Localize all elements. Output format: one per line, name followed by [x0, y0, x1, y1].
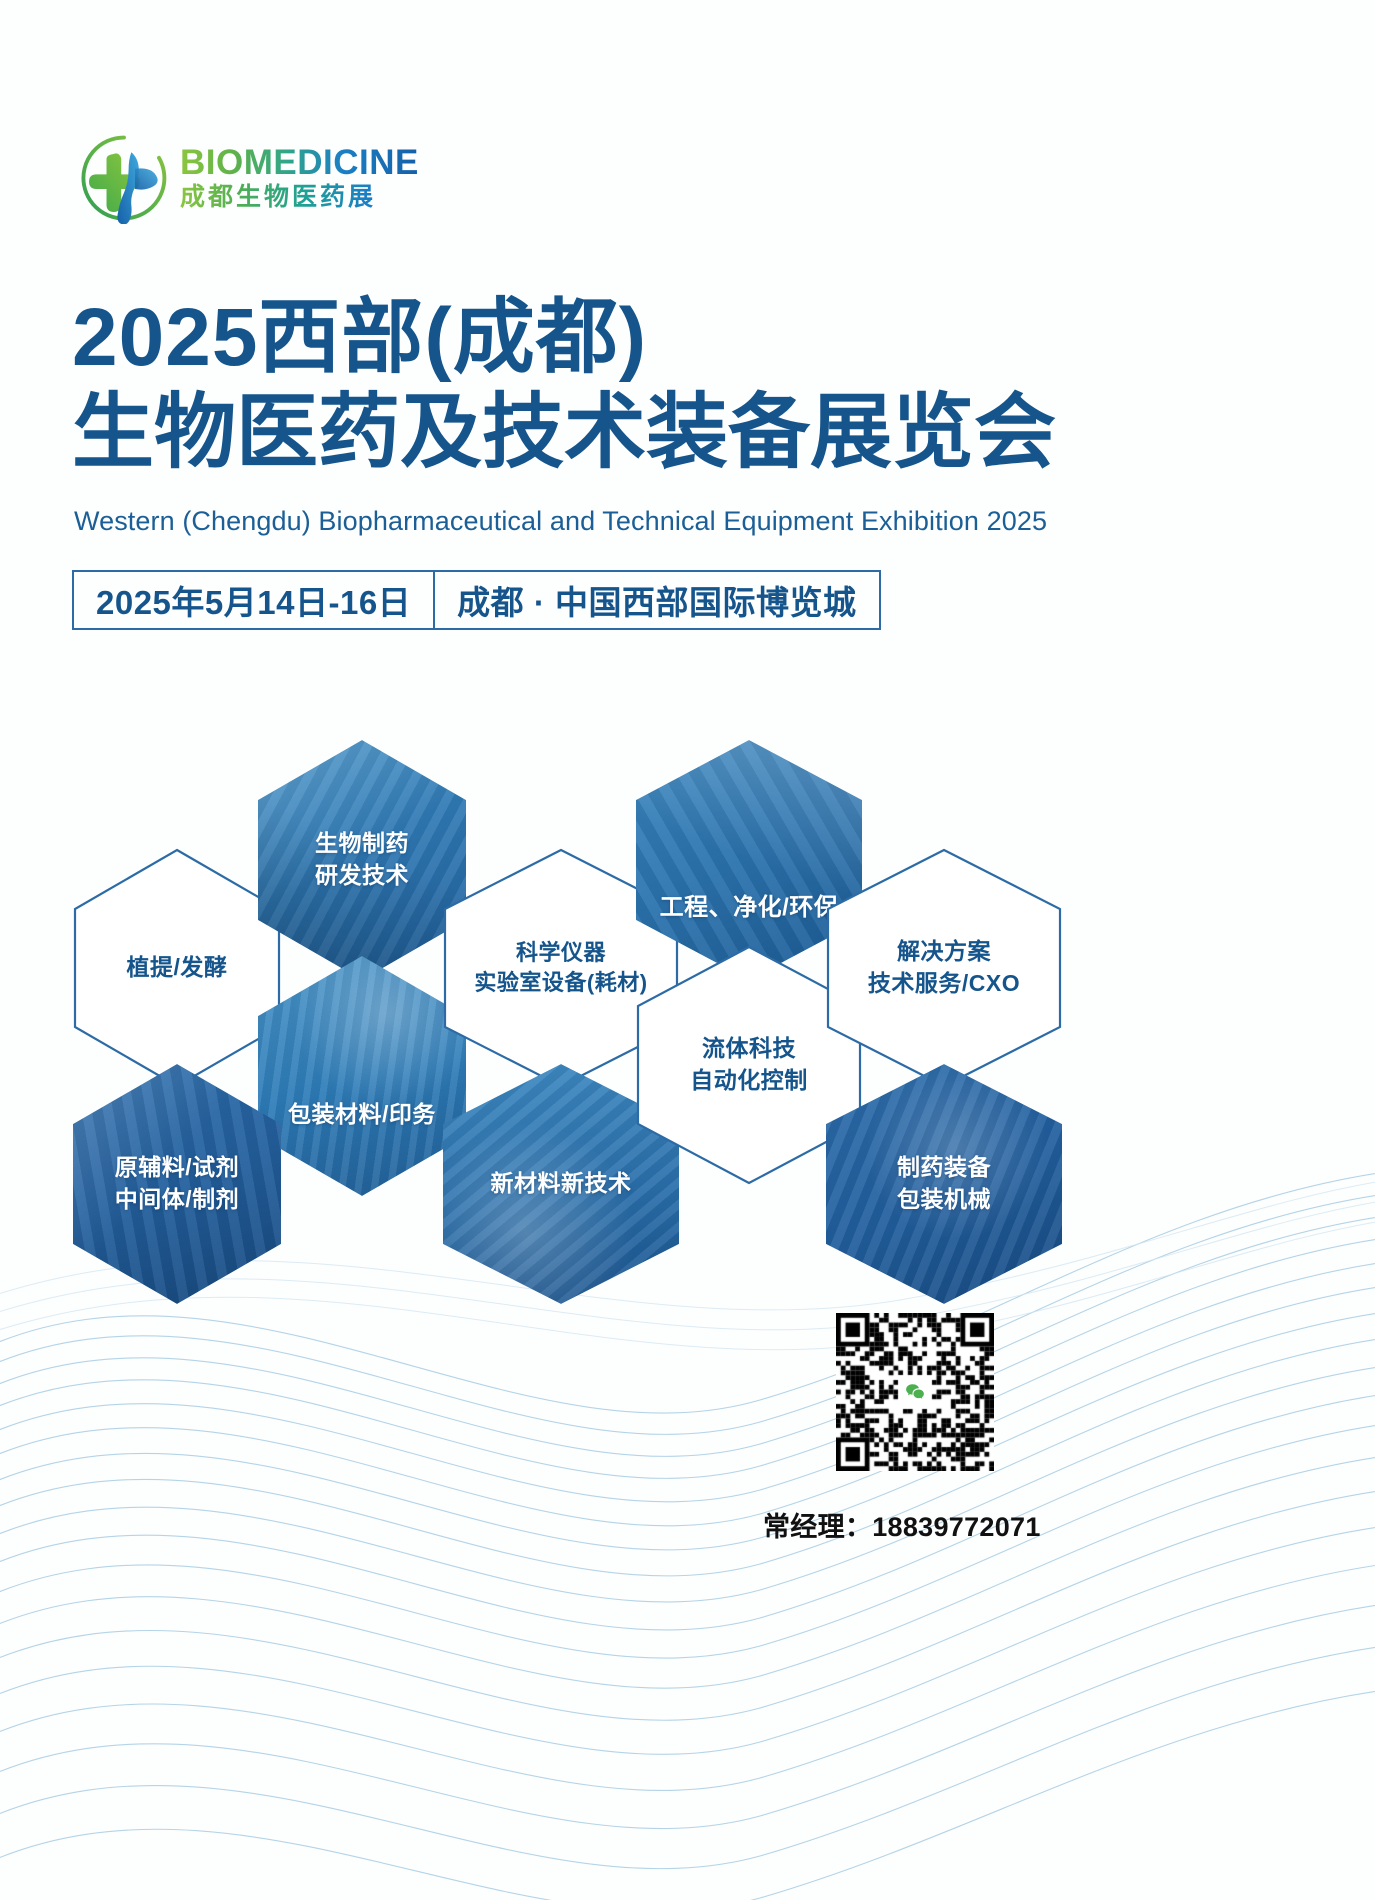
hex-label-line-1: 流体科技 — [702, 1035, 796, 1061]
page-title: 2025西部(成都) 生物医药及技术装备展览会 — [72, 290, 1212, 480]
wechat-qr-code[interactable] — [836, 1313, 994, 1471]
hex-label: 工程、净化/环保 — [654, 891, 845, 924]
hex-label: 科学仪器 实验室设备(耗材) — [468, 938, 653, 999]
brand-logo: BIOMEDICINE 成都生物医药展 — [78, 128, 498, 228]
contact-info: 常经理：18839772071 — [763, 1505, 1063, 1544]
hex-plant-extraction-fermentation[interactable]: 植提/发酵 — [73, 848, 281, 1088]
hex-label-line-2: 自动化控制 — [690, 1067, 808, 1093]
hex-packaging-printing[interactable]: 包装材料/印务 — [258, 956, 466, 1196]
hex-image — [258, 956, 466, 1196]
hex-label: 包装材料/印务 — [282, 1099, 442, 1131]
hex-label-line-2: 技术服务/CXO — [868, 970, 1020, 996]
hex-label-line-2: 实验室设备(耗材) — [474, 970, 647, 995]
hex-label-line-2: 中间体/制剂 — [115, 1186, 239, 1212]
hex-label: 新材料新技术 — [485, 1168, 638, 1200]
poster-canvas: BIOMEDICINE 成都生物医药展 2025西部(成都) 生物医药及技术装备… — [0, 0, 1375, 1900]
medical-cross-leaf-logo-icon — [78, 132, 170, 224]
hex-label-line-2: 包装机械 — [897, 1186, 991, 1212]
event-info-bar: 2025年5月14日-16日 成都 · 中国西部国际博览城 — [72, 570, 881, 630]
hex-label-line-1: 原辅料/试剂 — [115, 1154, 239, 1180]
hex-label-line-2: 研发技术 — [315, 862, 409, 888]
brand-logo-text: BIOMEDICINE 成都生物医药展 — [180, 145, 419, 212]
wechat-icon — [900, 1377, 930, 1407]
page-subtitle-en: Western (Chengdu) Biopharmaceutical and … — [74, 506, 1047, 537]
hex-label: 生物制药 研发技术 — [309, 828, 415, 891]
brand-name-cn: 成都生物医药展 — [180, 183, 419, 212]
hex-label: 原辅料/试剂 中间体/制剂 — [109, 1152, 245, 1215]
event-date: 2025年5月14日-16日 — [74, 572, 435, 628]
brand-name-en: BIOMEDICINE — [180, 145, 419, 180]
hex-label: 制药装备 包装机械 — [891, 1152, 997, 1215]
hex-label: 流体科技 自动化控制 — [684, 1033, 814, 1096]
category-hex-grid: 植提/发酵 生物制药 研发技术 包装材料/印务 原辅料/试剂 中间体/制剂 — [0, 700, 1375, 1320]
page-title-line-2: 生物医药及技术装备展览会 — [72, 385, 1212, 480]
hex-label: 解决方案 技术服务/CXO — [862, 936, 1026, 999]
hex-label: 植提/发酵 — [121, 952, 234, 984]
event-venue: 成都 · 中国西部国际博览城 — [435, 572, 878, 628]
hex-raw-materials-reagents[interactable]: 原辅料/试剂 中间体/制剂 — [73, 1064, 281, 1304]
hex-label-line-1: 生物制药 — [315, 830, 409, 856]
hex-bio-pharma-rd[interactable]: 生物制药 研发技术 — [258, 740, 466, 980]
hex-label-line-1: 制药装备 — [897, 1154, 991, 1180]
page-title-line-1: 2025西部(成都) — [72, 290, 1212, 385]
hex-label-line-1: 科学仪器 — [516, 940, 606, 965]
hex-label-line-1: 解决方案 — [897, 938, 991, 964]
